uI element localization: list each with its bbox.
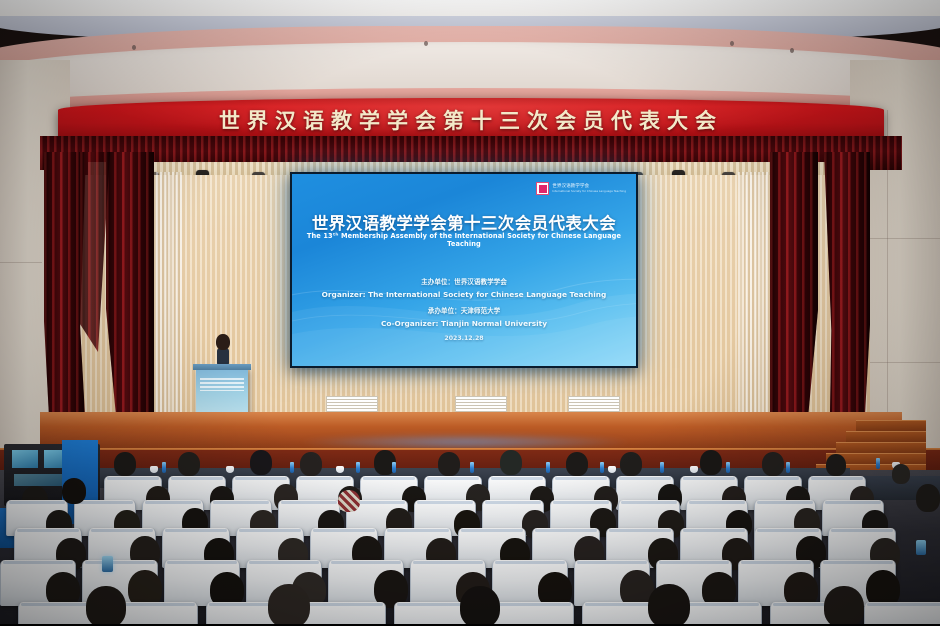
wall-seam xyxy=(866,362,940,363)
wall-seam xyxy=(0,262,42,263)
velvet-curtain-right-inner xyxy=(770,152,818,424)
water-bottle xyxy=(660,462,664,473)
water-bottle xyxy=(162,462,166,473)
stage-step xyxy=(856,420,926,431)
podium-top xyxy=(193,364,251,370)
attendee-head xyxy=(86,586,126,626)
water-bottle xyxy=(726,462,730,473)
screen-wave-graphic xyxy=(292,234,636,366)
screen-organizer-cn: 主办单位：世界汉语教学学会 xyxy=(292,276,636,286)
ceiling-downlight xyxy=(730,41,734,46)
society-logo: 世界汉语教学学会 International Society for Chine… xyxy=(536,182,626,195)
attendee-head xyxy=(62,478,86,504)
curtain-folds xyxy=(44,152,86,434)
ceiling-downlight xyxy=(790,48,794,53)
tea-cup xyxy=(336,466,344,473)
screen-surface: 世界汉语教学学会 International Society for Chine… xyxy=(292,174,636,366)
curtain-folds xyxy=(824,152,870,440)
sheer-curtain-right xyxy=(738,172,772,416)
screen-coorganizer-en: Co-Organizer: Tianjin Normal University xyxy=(292,319,636,328)
tea-cup xyxy=(150,466,158,473)
screen-organizer-en: Organizer: The International Society for… xyxy=(292,290,636,299)
auditorium-photo: 世界汉语教学学会第十三次会员代表大会 xyxy=(0,0,940,626)
stage-step xyxy=(846,431,926,442)
stage-step xyxy=(836,442,926,453)
water-bottle xyxy=(786,462,790,473)
av-monitor xyxy=(12,450,38,468)
screen-title-en: The 13ᵗʰ Membership Assembly of the Inte… xyxy=(292,232,636,248)
attendee-head xyxy=(460,586,500,626)
audience-seat xyxy=(488,602,574,626)
attendee-head xyxy=(178,452,200,476)
water-bottle xyxy=(392,462,396,473)
attendee-head xyxy=(700,450,722,475)
tea-cup xyxy=(690,466,698,473)
av-monitor xyxy=(14,474,64,486)
attendee-head xyxy=(268,584,310,626)
water-bottle xyxy=(290,462,294,473)
velvet-curtain-left-inner xyxy=(106,152,154,422)
velvet-curtain-right-outer xyxy=(824,152,870,440)
screen-title-cn: 世界汉语教学学会第十三次会员代表大会 xyxy=(292,210,636,234)
tea-cup xyxy=(226,466,234,473)
audience-seat xyxy=(300,602,386,626)
water-bottle xyxy=(600,462,604,473)
curtain-folds xyxy=(770,152,818,424)
logo-glyph-icon xyxy=(539,185,547,193)
water-bottle xyxy=(546,462,550,473)
water-bottle xyxy=(356,462,360,473)
logo-mark-icon xyxy=(536,182,549,195)
screen-coorganizer-cn: 承办单位：天津师范大学 xyxy=(292,305,636,315)
attendee-head xyxy=(566,452,588,476)
banner-title: 世界汉语教学学会第十三次会员代表大会 xyxy=(58,105,884,135)
attendee-head xyxy=(500,450,522,475)
wall-seam xyxy=(866,238,940,239)
logo-text-en: International Society for Chinese Langua… xyxy=(552,190,626,193)
audience-seat xyxy=(864,602,940,626)
water-bottle xyxy=(876,458,880,469)
attendee-phone xyxy=(102,556,113,572)
tea-cup xyxy=(608,466,616,473)
podium-label xyxy=(200,378,244,391)
attendee-head xyxy=(916,484,940,512)
attendee-head xyxy=(892,464,910,484)
attendee-head xyxy=(620,452,642,476)
water-bottle xyxy=(470,462,474,473)
attendee-head xyxy=(300,452,322,476)
attendee-head xyxy=(824,586,864,626)
attendee-phone xyxy=(916,540,926,555)
speaker-head xyxy=(216,334,230,350)
velvet-curtain-left-outer xyxy=(44,152,86,434)
ceiling-downlight xyxy=(424,41,428,46)
attendee-head xyxy=(250,450,272,475)
attendee-head xyxy=(826,454,846,476)
attendee-head xyxy=(114,452,136,476)
led-presentation-screen: 世界汉语教学学会 International Society for Chine… xyxy=(290,172,638,368)
attendee-head-patterned xyxy=(338,490,360,512)
screen-date: 2023.12.28 xyxy=(292,335,636,342)
curtain-folds xyxy=(106,152,154,422)
attendee-head xyxy=(762,452,784,476)
attendee-head xyxy=(648,584,690,626)
ceiling-downlight xyxy=(132,45,136,50)
attendee-head xyxy=(438,452,460,476)
